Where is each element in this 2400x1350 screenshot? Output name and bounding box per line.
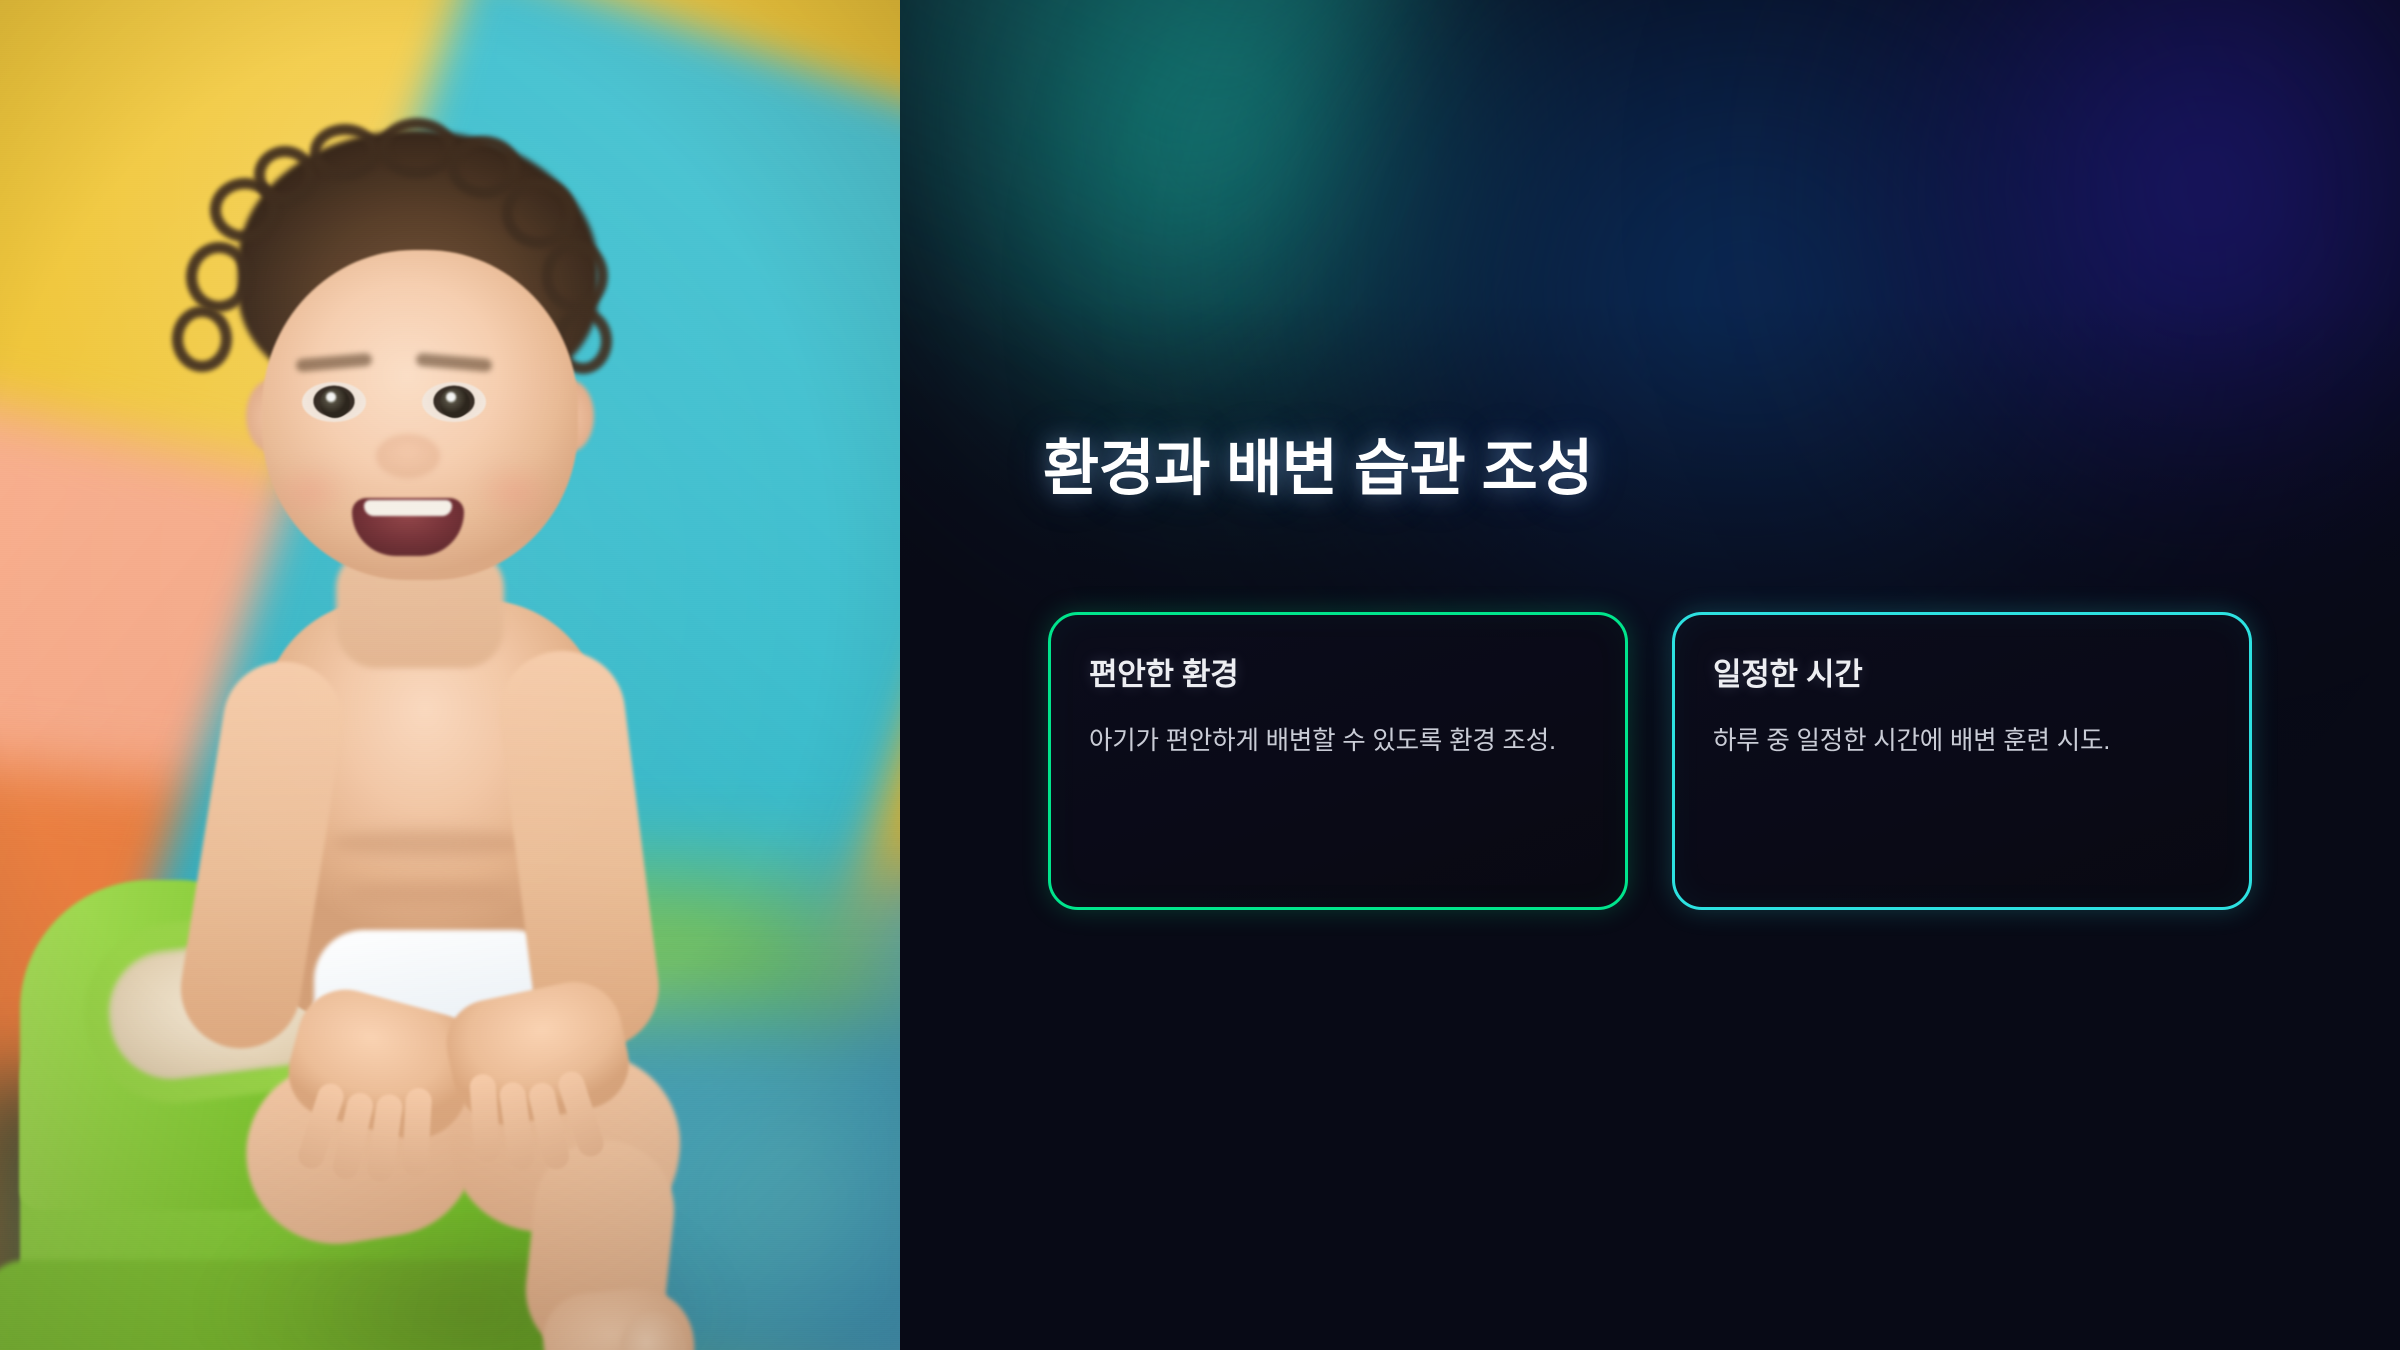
hair-curl (448, 136, 520, 198)
cheek-blush (266, 460, 352, 524)
hair-curl (378, 118, 456, 178)
baby-teeth (364, 500, 452, 516)
eye-highlight (326, 392, 336, 402)
finger (402, 1087, 433, 1176)
card-comfortable-environment[interactable]: 편안한 환경 아기가 편안하게 배변할 수 있도록 환경 조성. (1048, 612, 1628, 910)
hair-curl (542, 240, 608, 312)
belly-fold (330, 830, 530, 856)
card-title: 일정한 시간 (1713, 649, 2211, 694)
hair-curl (502, 178, 576, 248)
baby-nose (376, 434, 440, 478)
card-title: 편안한 환경 (1089, 649, 1587, 694)
hair-curl (172, 306, 232, 372)
slide-photo (0, 0, 900, 1350)
card-body: 아기가 편안하게 배변할 수 있도록 환경 조성. (1089, 721, 1587, 762)
eye-pupil (440, 388, 470, 418)
cheek-blush (472, 460, 558, 524)
belly-fold-2 (346, 882, 514, 904)
card-list: 편안한 환경 아기가 편안하게 배변할 수 있도록 환경 조성. 일정한 시간 … (1048, 612, 2252, 910)
page-title: 환경과 배변 습관 조성 (1043, 418, 1593, 507)
hair-curl (186, 242, 252, 312)
card-consistent-time[interactable]: 일정한 시간 하루 중 일정한 시간에 배변 훈련 시도. (1672, 612, 2252, 910)
content-area: 환경과 배변 습관 조성 편안한 환경 아기가 편안하게 배변할 수 있도록 환… (900, 0, 2400, 1350)
slide-content-pane: 환경과 배변 습관 조성 편안한 환경 아기가 편안하게 배변할 수 있도록 환… (900, 0, 2400, 1350)
baby-figure (150, 130, 790, 1350)
hair-curl (254, 146, 316, 204)
slide: 환경과 배변 습관 조성 편안한 환경 아기가 편안하게 배변할 수 있도록 환… (0, 0, 2400, 1350)
card-body: 하루 중 일정한 시간에 배변 훈련 시도. (1713, 721, 2211, 762)
eye-pupil (320, 388, 350, 418)
hair-curl (310, 124, 380, 180)
eye-highlight (446, 392, 456, 402)
